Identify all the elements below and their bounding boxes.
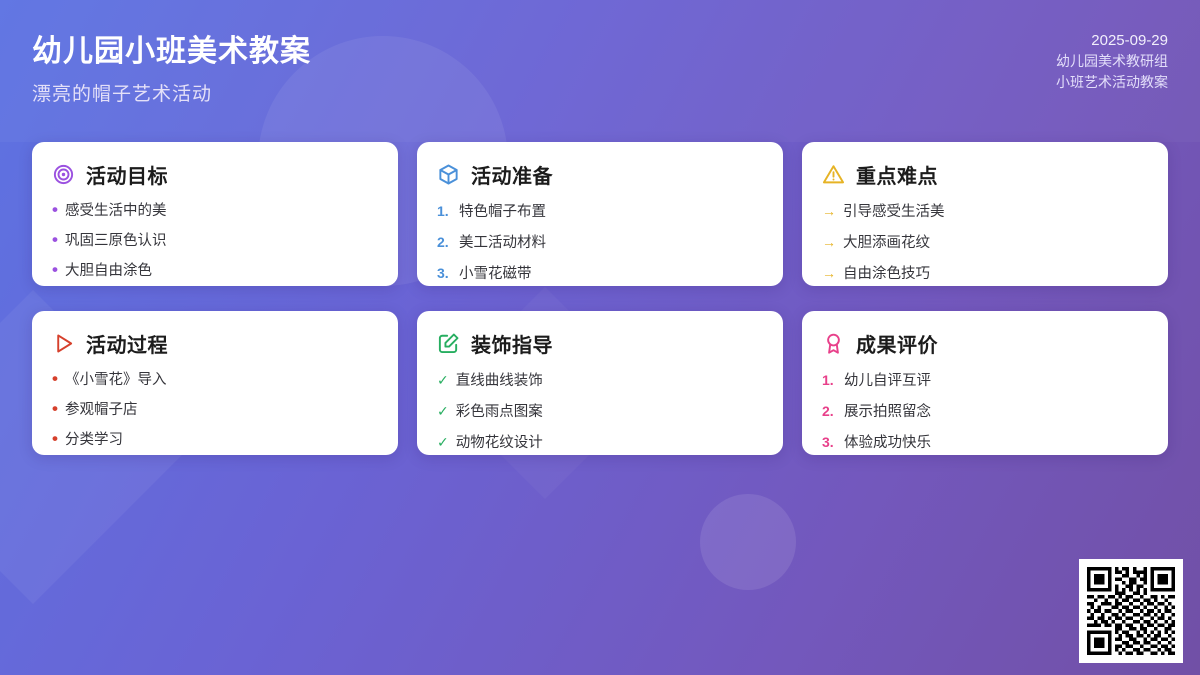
list-item-label: 直线曲线装饰	[456, 372, 543, 390]
card-title: 活动过程	[86, 329, 168, 358]
page-subtitle: 漂亮的帽子艺术活动	[32, 79, 212, 106]
list-item: ✓彩色雨点图案	[437, 402, 763, 421]
list-item: •大胆自由涂色	[52, 262, 378, 280]
list-item-label: 《小雪花》导入	[65, 371, 167, 389]
list-item: →引导感受生活美	[822, 202, 1148, 221]
list-item: →自由涂色技巧	[822, 264, 1148, 283]
list-item-label: 参观帽子店	[65, 401, 138, 419]
edit-square-icon	[437, 332, 460, 355]
list-item: ✓直线曲线装饰	[437, 371, 763, 390]
meta-organization: 幼儿园美术教研组	[1056, 51, 1168, 72]
list-marker-number: 2.	[822, 402, 837, 420]
qr-code-container[interactable]	[1079, 559, 1183, 663]
list-item-label: 展示拍照留念	[844, 403, 931, 421]
card-5[interactable]: 装饰指导✓直线曲线装饰✓彩色雨点图案✓动物花纹设计	[417, 311, 783, 455]
slide-header: 幼儿园小班美术教案 漂亮的帽子艺术活动 2025-09-29 幼儿园美术教研组 …	[0, 0, 1200, 142]
list-item-label: 美工活动材料	[459, 234, 546, 252]
card-6[interactable]: 成果评价1.幼儿自评互评2.展示拍照留念3.体验成功快乐	[802, 311, 1168, 455]
warning-triangle-icon	[822, 163, 845, 186]
list-item: 3.小雪花磁带	[437, 264, 763, 283]
card-title: 活动目标	[86, 160, 168, 189]
check-icon: ✓	[437, 371, 449, 389]
list-item-label: 体验成功快乐	[844, 434, 931, 452]
list-item: 1.特色帽子布置	[437, 202, 763, 221]
card-header: 成果评价	[822, 329, 1148, 358]
qr-code	[1087, 567, 1175, 655]
card-title: 装饰指导	[471, 329, 553, 358]
list-item: •感受生活中的美	[52, 202, 378, 220]
page-title: 幼儿园小班美术教案	[32, 26, 311, 70]
list-marker-number: 3.	[822, 433, 837, 451]
list-item: 1.幼儿自评互评	[822, 371, 1148, 390]
list-item: ✓动物花纹设计	[437, 433, 763, 452]
list-marker-bullet: •	[52, 202, 58, 217]
card-header: 活动目标	[52, 160, 378, 189]
check-icon: ✓	[437, 433, 449, 451]
list-marker-bullet: •	[52, 371, 58, 386]
list-item: •巩固三原色认识	[52, 232, 378, 250]
list-item: 2.展示拍照留念	[822, 402, 1148, 421]
card-grid: 活动目标•感受生活中的美•巩固三原色认识•大胆自由涂色活动准备1.特色帽子布置2…	[32, 142, 1168, 455]
card-title: 重点难点	[856, 160, 938, 189]
check-icon: ✓	[437, 402, 449, 420]
card-list: •《小雪花》导入•参观帽子店•分类学习	[52, 371, 378, 449]
card-list: 1.幼儿自评互评2.展示拍照留念3.体验成功快乐	[822, 371, 1148, 452]
list-item-label: 小雪花磁带	[459, 265, 532, 283]
card-header: 装饰指导	[437, 329, 763, 358]
card-title: 成果评价	[856, 329, 938, 358]
card-2[interactable]: 活动准备1.特色帽子布置2.美工活动材料3.小雪花磁带	[417, 142, 783, 286]
arrow-right-icon: →	[822, 202, 836, 220]
header-meta: 2025-09-29 幼儿园美术教研组 小班艺术活动教案	[1056, 30, 1168, 93]
card-list: 1.特色帽子布置2.美工活动材料3.小雪花磁带	[437, 202, 763, 283]
list-item: 3.体验成功快乐	[822, 433, 1148, 452]
slide-root: 幼儿园小班美术教案 漂亮的帽子艺术活动 2025-09-29 幼儿园美术教研组 …	[0, 0, 1200, 675]
list-item-label: 分类学习	[65, 431, 123, 449]
list-item-label: 巩固三原色认识	[65, 232, 167, 250]
list-item: 2.美工活动材料	[437, 233, 763, 252]
list-item: →大胆添画花纹	[822, 233, 1148, 252]
arrow-right-icon: →	[822, 264, 836, 282]
card-title: 活动准备	[471, 160, 553, 189]
list-item: •分类学习	[52, 431, 378, 449]
card-3[interactable]: 重点难点→引导感受生活美→大胆添画花纹→自由涂色技巧	[802, 142, 1168, 286]
list-marker-bullet: •	[52, 232, 58, 247]
list-item-label: 动物花纹设计	[456, 434, 543, 452]
list-item-label: 自由涂色技巧	[843, 265, 930, 283]
list-marker-bullet: •	[52, 262, 58, 277]
list-item-label: 感受生活中的美	[65, 202, 167, 220]
list-marker-number: 1.	[822, 371, 837, 389]
list-marker-number: 2.	[437, 233, 452, 251]
box-icon	[437, 163, 460, 186]
list-marker-number: 1.	[437, 202, 452, 220]
card-header: 活动过程	[52, 329, 378, 358]
list-marker-bullet: •	[52, 401, 58, 416]
list-item-label: 幼儿自评互评	[844, 372, 931, 390]
card-list: •感受生活中的美•巩固三原色认识•大胆自由涂色	[52, 202, 378, 280]
card-list: →引导感受生活美→大胆添画花纹→自由涂色技巧	[822, 202, 1148, 283]
card-header: 重点难点	[822, 160, 1148, 189]
play-triangle-icon	[52, 332, 75, 355]
meta-doc-type: 小班艺术活动教案	[1056, 72, 1168, 93]
card-list: ✓直线曲线装饰✓彩色雨点图案✓动物花纹设计	[437, 371, 763, 452]
list-item-label: 大胆自由涂色	[65, 262, 152, 280]
list-item-label: 特色帽子布置	[459, 203, 546, 221]
list-marker-bullet: •	[52, 431, 58, 446]
list-marker-number: 3.	[437, 264, 452, 282]
meta-date: 2025-09-29	[1056, 30, 1168, 51]
list-item-label: 彩色雨点图案	[456, 403, 543, 421]
list-item-label: 引导感受生活美	[843, 203, 945, 221]
target-icon	[52, 163, 75, 186]
arrow-right-icon: →	[822, 233, 836, 251]
list-item: •参观帽子店	[52, 401, 378, 419]
list-item: •《小雪花》导入	[52, 371, 378, 389]
card-4[interactable]: 活动过程•《小雪花》导入•参观帽子店•分类学习	[32, 311, 398, 455]
decorative-circle-small	[700, 494, 796, 590]
award-medal-icon	[822, 332, 845, 355]
list-item-label: 大胆添画花纹	[843, 234, 930, 252]
card-1[interactable]: 活动目标•感受生活中的美•巩固三原色认识•大胆自由涂色	[32, 142, 398, 286]
card-header: 活动准备	[437, 160, 763, 189]
